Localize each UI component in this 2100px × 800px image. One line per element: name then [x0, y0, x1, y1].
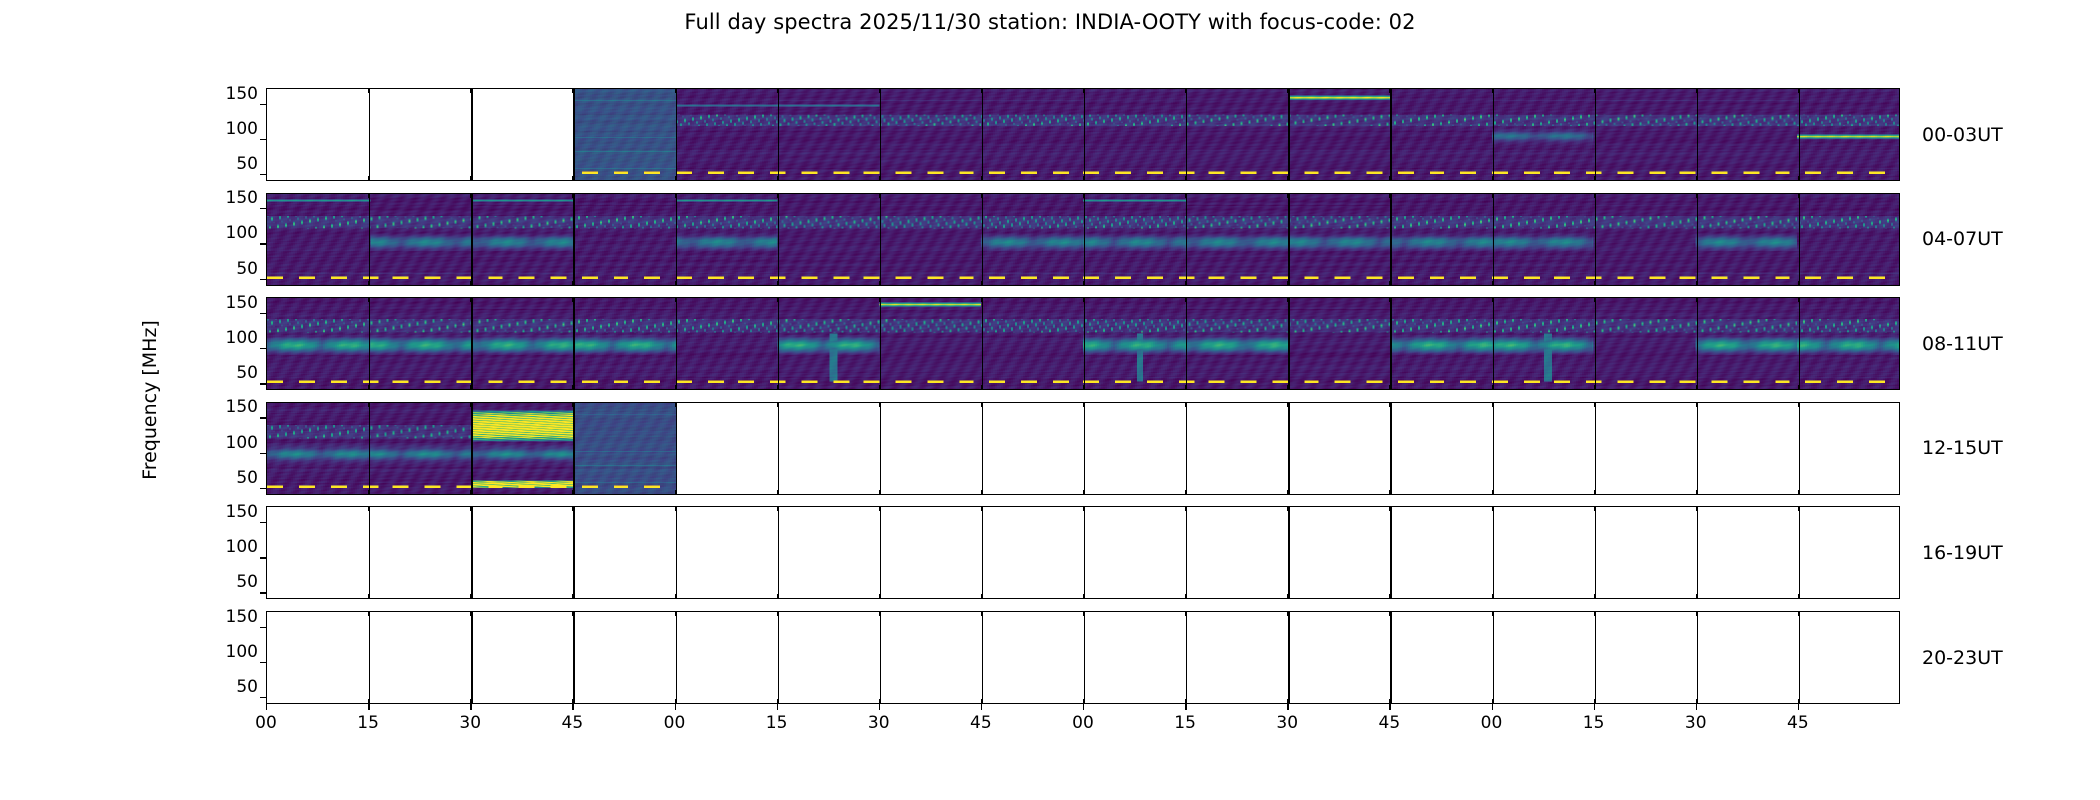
- x-tick-mark: [981, 704, 982, 710]
- y-tick-label-wrap: 100: [202, 547, 258, 567]
- y-tick-label: 100: [202, 119, 258, 139]
- spectrogram-image: [267, 194, 1899, 285]
- x-minor-tick: [1083, 611, 1084, 616]
- x-minor-tick: [1287, 594, 1288, 599]
- x-minor-tick: [572, 297, 573, 302]
- x-minor-tick: [675, 281, 676, 286]
- y-tick-mark: [260, 522, 266, 523]
- y-tick-label-wrap: 50: [202, 582, 258, 602]
- spectrogram-image: [267, 89, 1899, 180]
- y-tick-label: 50: [202, 468, 258, 488]
- x-minor-tick: [572, 176, 573, 181]
- y-tick-label: 100: [202, 223, 258, 243]
- x-minor-tick: [1083, 490, 1084, 495]
- x-minor-tick: [675, 385, 676, 390]
- x-minor-tick: [1798, 281, 1799, 286]
- x-minor-tick: [777, 297, 778, 302]
- x-minor-tick: [1798, 297, 1799, 302]
- x-minor-tick: [1185, 297, 1186, 302]
- figure-title: Full day spectra 2025/11/30 station: IND…: [0, 10, 2100, 34]
- y-tick-mark: [260, 313, 266, 314]
- x-minor-tick: [777, 281, 778, 286]
- y-tick-mark: [260, 104, 266, 105]
- x-minor-tick: [368, 402, 369, 407]
- y-tick-label-wrap: 50: [202, 687, 258, 707]
- x-minor-tick: [368, 594, 369, 599]
- x-minor-tick: [1389, 490, 1390, 495]
- x-minor-tick: [1798, 490, 1799, 495]
- x-minor-tick: [1798, 594, 1799, 599]
- y-tick-label: 150: [202, 397, 258, 417]
- x-minor-tick: [470, 385, 471, 390]
- x-minor-tick: [368, 297, 369, 302]
- x-tick-mark: [1696, 704, 1697, 710]
- y-tick-label-wrap: 150: [202, 512, 258, 532]
- x-minor-tick: [1594, 281, 1595, 286]
- x-minor-tick: [1083, 402, 1084, 407]
- x-minor-tick: [1389, 402, 1390, 407]
- y-tick-label-wrap: 50: [202, 478, 258, 498]
- y-tick-label-wrap: 150: [202, 617, 258, 637]
- spectrogram-row-20-23ut[interactable]: [266, 611, 1900, 704]
- x-minor-tick: [1083, 297, 1084, 302]
- x-minor-tick: [470, 281, 471, 286]
- x-minor-tick: [1185, 193, 1186, 198]
- x-minor-tick: [879, 176, 880, 181]
- spectrogram-image: [267, 612, 1899, 703]
- x-tick-label: 30: [459, 713, 481, 733]
- x-minor-tick: [1287, 297, 1288, 302]
- x-minor-tick: [1492, 193, 1493, 198]
- x-minor-tick: [572, 402, 573, 407]
- spectrogram-row-16-19ut[interactable]: [266, 506, 1900, 599]
- y-tick-label-wrap: 150: [202, 198, 258, 218]
- x-minor-tick: [1492, 594, 1493, 599]
- x-tick-mark: [1798, 704, 1799, 710]
- y-tick-label: 100: [202, 433, 258, 453]
- x-minor-tick: [879, 611, 880, 616]
- x-minor-tick: [1185, 506, 1186, 511]
- x-tick-mark: [1083, 704, 1084, 710]
- x-minor-tick: [1287, 281, 1288, 286]
- x-minor-tick: [1696, 385, 1697, 390]
- x-minor-tick: [777, 594, 778, 599]
- y-tick-mark: [260, 348, 266, 349]
- y-tick-label-wrap: 50: [202, 164, 258, 184]
- x-minor-tick: [1492, 297, 1493, 302]
- x-tick-mark: [1594, 704, 1595, 710]
- x-tick-mark: [1389, 704, 1390, 710]
- x-minor-tick: [368, 611, 369, 616]
- x-minor-tick: [675, 193, 676, 198]
- x-minor-tick: [368, 385, 369, 390]
- x-minor-tick: [879, 88, 880, 93]
- x-minor-tick: [1594, 611, 1595, 616]
- y-tick-label: 100: [202, 328, 258, 348]
- y-tick-mark: [260, 417, 266, 418]
- x-minor-tick: [1696, 281, 1697, 286]
- x-minor-tick: [879, 281, 880, 286]
- x-minor-tick: [368, 281, 369, 286]
- x-minor-tick: [1594, 176, 1595, 181]
- x-minor-tick: [1594, 490, 1595, 495]
- x-minor-tick: [777, 490, 778, 495]
- x-minor-tick: [981, 385, 982, 390]
- row-time-label-04-07ut: 04-07UT: [1922, 228, 2003, 250]
- x-minor-tick: [1696, 611, 1697, 616]
- x-minor-tick: [1083, 281, 1084, 286]
- x-minor-tick: [1287, 385, 1288, 390]
- x-minor-tick: [981, 490, 982, 495]
- x-tick-mark: [368, 704, 369, 710]
- x-minor-tick: [1594, 594, 1595, 599]
- x-minor-tick: [1798, 611, 1799, 616]
- x-minor-tick: [879, 402, 880, 407]
- x-minor-tick: [368, 88, 369, 93]
- x-minor-tick: [1389, 176, 1390, 181]
- x-minor-tick: [1389, 506, 1390, 511]
- x-minor-tick: [572, 594, 573, 599]
- x-minor-tick: [470, 176, 471, 181]
- y-tick-mark: [260, 627, 266, 628]
- x-minor-tick: [1798, 88, 1799, 93]
- y-tick-label-wrap: 150: [202, 94, 258, 114]
- y-tick-label-wrap: 150: [202, 407, 258, 427]
- spectrogram-row-04-07ut[interactable]: [266, 193, 1900, 286]
- x-minor-tick: [470, 594, 471, 599]
- spectrogram-row-12-15ut[interactable]: [266, 402, 1900, 495]
- x-minor-tick: [1287, 490, 1288, 495]
- y-tick-mark: [260, 208, 266, 209]
- x-minor-tick: [675, 611, 676, 616]
- x-minor-tick: [1492, 490, 1493, 495]
- x-minor-tick: [1594, 506, 1595, 511]
- x-tick-label: 30: [868, 713, 890, 733]
- x-minor-tick: [1389, 611, 1390, 616]
- x-minor-tick: [1389, 385, 1390, 390]
- spectrogram-row-00-03ut[interactable]: [266, 88, 1900, 181]
- x-minor-tick: [1185, 176, 1186, 181]
- x-minor-tick: [1798, 176, 1799, 181]
- x-minor-tick: [981, 297, 982, 302]
- x-minor-tick: [981, 594, 982, 599]
- x-minor-tick: [572, 281, 573, 286]
- x-minor-tick: [981, 193, 982, 198]
- x-minor-tick: [1492, 402, 1493, 407]
- x-tick-label: 45: [562, 713, 584, 733]
- x-minor-tick: [470, 402, 471, 407]
- x-minor-tick: [1389, 193, 1390, 198]
- x-minor-tick: [1185, 611, 1186, 616]
- y-tick-label: 150: [202, 293, 258, 313]
- x-minor-tick: [368, 176, 369, 181]
- x-minor-tick: [1492, 88, 1493, 93]
- y-tick-label-wrap: 100: [202, 652, 258, 672]
- x-minor-tick: [1594, 193, 1595, 198]
- x-minor-tick: [777, 402, 778, 407]
- y-tick-label: 50: [202, 572, 258, 592]
- x-minor-tick: [1594, 88, 1595, 93]
- x-minor-tick: [981, 506, 982, 511]
- row-time-label-16-19ut: 16-19UT: [1922, 542, 2003, 564]
- x-minor-tick: [1594, 385, 1595, 390]
- row-time-label-20-23ut: 20-23UT: [1922, 647, 2003, 669]
- x-tick-mark: [777, 704, 778, 710]
- x-minor-tick: [1389, 297, 1390, 302]
- y-tick-label: 150: [202, 84, 258, 104]
- x-minor-tick: [1287, 402, 1288, 407]
- x-minor-tick: [1083, 594, 1084, 599]
- x-minor-tick: [1083, 506, 1084, 511]
- x-minor-tick: [675, 506, 676, 511]
- spectrogram-row-08-11ut[interactable]: [266, 297, 1900, 390]
- y-axis-label: Frequency [MHz]: [139, 320, 161, 480]
- x-tick-label: 15: [1583, 713, 1605, 733]
- x-tick-mark: [266, 704, 267, 710]
- x-minor-tick: [1083, 88, 1084, 93]
- x-tick-label: 30: [1685, 713, 1707, 733]
- y-tick-mark: [260, 383, 266, 384]
- y-tick-mark: [260, 662, 266, 663]
- x-minor-tick: [1389, 281, 1390, 286]
- x-tick-label: 15: [1174, 713, 1196, 733]
- x-minor-tick: [777, 385, 778, 390]
- y-tick-label-wrap: 50: [202, 269, 258, 289]
- y-tick-label: 150: [202, 607, 258, 627]
- x-tick-mark: [879, 704, 880, 710]
- y-tick-label-wrap: 100: [202, 443, 258, 463]
- x-minor-tick: [1389, 594, 1390, 599]
- x-minor-tick: [1696, 297, 1697, 302]
- y-tick-label-wrap: 50: [202, 373, 258, 393]
- x-minor-tick: [1696, 506, 1697, 511]
- y-tick-label: 150: [202, 188, 258, 208]
- y-tick-label: 50: [202, 259, 258, 279]
- x-minor-tick: [1492, 176, 1493, 181]
- x-minor-tick: [368, 193, 369, 198]
- x-minor-tick: [1594, 297, 1595, 302]
- x-minor-tick: [1185, 88, 1186, 93]
- x-minor-tick: [1287, 193, 1288, 198]
- x-minor-tick: [470, 193, 471, 198]
- y-tick-label-wrap: 150: [202, 303, 258, 323]
- x-minor-tick: [675, 402, 676, 407]
- x-minor-tick: [1185, 490, 1186, 495]
- x-minor-tick: [675, 594, 676, 599]
- x-minor-tick: [1798, 193, 1799, 198]
- x-tick-mark: [470, 704, 471, 710]
- x-tick-label: 45: [1787, 713, 1809, 733]
- y-tick-label-wrap: 100: [202, 338, 258, 358]
- x-minor-tick: [777, 611, 778, 616]
- x-minor-tick: [1185, 385, 1186, 390]
- x-minor-tick: [1696, 176, 1697, 181]
- x-minor-tick: [368, 490, 369, 495]
- spectrogram-image: [267, 507, 1899, 598]
- x-minor-tick: [981, 402, 982, 407]
- x-minor-tick: [1696, 402, 1697, 407]
- y-tick-label: 150: [202, 502, 258, 522]
- row-time-label-00-03ut: 00-03UT: [1922, 124, 2003, 146]
- x-tick-mark: [572, 704, 573, 710]
- x-minor-tick: [879, 594, 880, 599]
- x-minor-tick: [1594, 402, 1595, 407]
- x-minor-tick: [675, 88, 676, 93]
- y-tick-label-wrap: 100: [202, 233, 258, 253]
- x-minor-tick: [1287, 611, 1288, 616]
- x-minor-tick: [1185, 281, 1186, 286]
- x-tick-label: 30: [1276, 713, 1298, 733]
- x-minor-tick: [572, 506, 573, 511]
- x-minor-tick: [981, 611, 982, 616]
- x-minor-tick: [879, 385, 880, 390]
- x-minor-tick: [1492, 611, 1493, 616]
- x-minor-tick: [368, 506, 369, 511]
- x-minor-tick: [572, 611, 573, 616]
- x-minor-tick: [572, 385, 573, 390]
- x-minor-tick: [1798, 402, 1799, 407]
- x-minor-tick: [879, 193, 880, 198]
- x-minor-tick: [1798, 506, 1799, 511]
- row-time-label-12-15ut: 12-15UT: [1922, 437, 2003, 459]
- x-minor-tick: [981, 281, 982, 286]
- x-minor-tick: [777, 176, 778, 181]
- y-tick-mark: [260, 557, 266, 558]
- y-tick-mark: [260, 488, 266, 489]
- y-tick-mark: [260, 243, 266, 244]
- spectrogram-image: [267, 403, 1899, 494]
- x-minor-tick: [1798, 385, 1799, 390]
- x-minor-tick: [572, 88, 573, 93]
- x-minor-tick: [675, 297, 676, 302]
- x-tick-label: 00: [1481, 713, 1503, 733]
- x-minor-tick: [1287, 506, 1288, 511]
- x-tick-mark: [675, 704, 676, 710]
- x-minor-tick: [572, 193, 573, 198]
- x-tick-label: 15: [357, 713, 379, 733]
- x-minor-tick: [1696, 490, 1697, 495]
- x-minor-tick: [1492, 281, 1493, 286]
- y-tick-mark: [260, 697, 266, 698]
- y-tick-label-wrap: 100: [202, 129, 258, 149]
- x-minor-tick: [470, 490, 471, 495]
- spectrogram-figure: Full day spectra 2025/11/30 station: IND…: [0, 0, 2100, 800]
- x-minor-tick: [879, 490, 880, 495]
- y-tick-label: 100: [202, 537, 258, 557]
- x-minor-tick: [777, 193, 778, 198]
- x-minor-tick: [470, 506, 471, 511]
- x-minor-tick: [1696, 88, 1697, 93]
- x-minor-tick: [879, 506, 880, 511]
- x-minor-tick: [1389, 88, 1390, 93]
- x-tick-label: 45: [1379, 713, 1401, 733]
- row-time-label-08-11ut: 08-11UT: [1922, 333, 2003, 355]
- x-minor-tick: [1287, 176, 1288, 181]
- y-tick-label: 50: [202, 677, 258, 697]
- x-tick-label: 00: [1072, 713, 1094, 733]
- x-tick-label: 15: [766, 713, 788, 733]
- x-minor-tick: [1083, 385, 1084, 390]
- x-tick-mark: [1185, 704, 1186, 710]
- x-minor-tick: [675, 176, 676, 181]
- x-minor-tick: [1185, 402, 1186, 407]
- x-minor-tick: [1696, 594, 1697, 599]
- x-minor-tick: [879, 297, 880, 302]
- x-minor-tick: [1492, 385, 1493, 390]
- y-tick-label: 100: [202, 642, 258, 662]
- y-tick-label: 50: [202, 363, 258, 383]
- x-minor-tick: [675, 490, 676, 495]
- x-minor-tick: [572, 490, 573, 495]
- x-tick-label: 45: [970, 713, 992, 733]
- x-tick-mark: [1287, 704, 1288, 710]
- x-minor-tick: [470, 297, 471, 302]
- x-minor-tick: [981, 176, 982, 181]
- y-tick-mark: [260, 453, 266, 454]
- x-minor-tick: [1696, 193, 1697, 198]
- y-tick-mark: [260, 174, 266, 175]
- x-tick-label: 00: [255, 713, 277, 733]
- spectrogram-image: [267, 298, 1899, 389]
- y-tick-mark: [260, 592, 266, 593]
- x-tick-mark: [1492, 704, 1493, 710]
- x-minor-tick: [1492, 506, 1493, 511]
- x-tick-label: 00: [664, 713, 686, 733]
- x-minor-tick: [470, 88, 471, 93]
- x-minor-tick: [1287, 88, 1288, 93]
- x-minor-tick: [1083, 176, 1084, 181]
- x-minor-tick: [1185, 594, 1186, 599]
- x-minor-tick: [1083, 193, 1084, 198]
- x-minor-tick: [981, 88, 982, 93]
- y-tick-mark: [260, 139, 266, 140]
- x-minor-tick: [777, 88, 778, 93]
- x-minor-tick: [777, 506, 778, 511]
- x-minor-tick: [470, 611, 471, 616]
- y-tick-mark: [260, 279, 266, 280]
- y-tick-label: 50: [202, 154, 258, 174]
